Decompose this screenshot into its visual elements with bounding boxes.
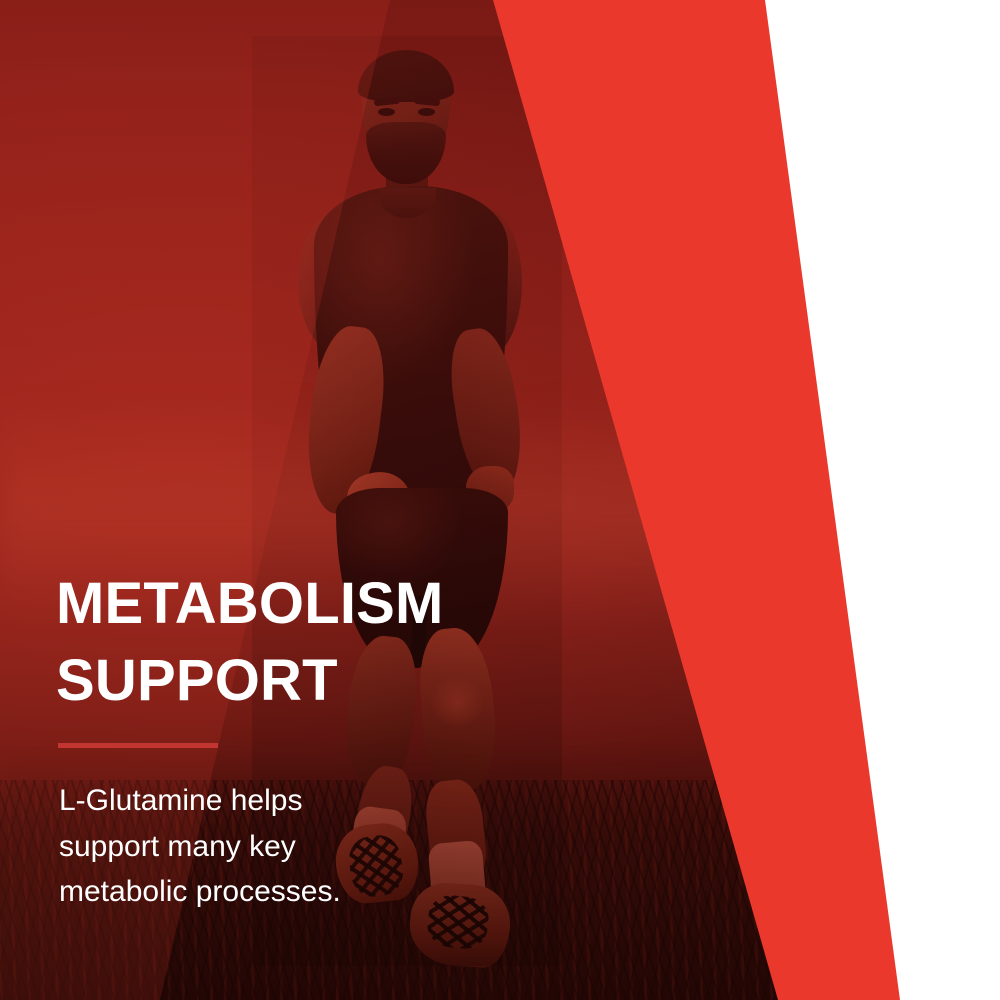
- page-title: METABOLISM SUPPORT: [56, 566, 486, 719]
- headline-line-2: SUPPORT: [56, 643, 486, 720]
- copy-block: METABOLISM SUPPORT L-Glutamine helps sup…: [56, 566, 486, 915]
- subcopy-text: L-Glutamine helps support many key metab…: [59, 778, 389, 915]
- runner-left-eye: [378, 108, 395, 116]
- accent-rule-divider: [58, 743, 218, 748]
- runner-right-eye: [418, 108, 435, 116]
- product-feature-banner: METABOLISM SUPPORT L-Glutamine helps sup…: [0, 0, 1000, 1000]
- runner-beard: [366, 122, 446, 184]
- headline-line-1: METABOLISM: [56, 566, 486, 643]
- runner-hair: [358, 50, 454, 102]
